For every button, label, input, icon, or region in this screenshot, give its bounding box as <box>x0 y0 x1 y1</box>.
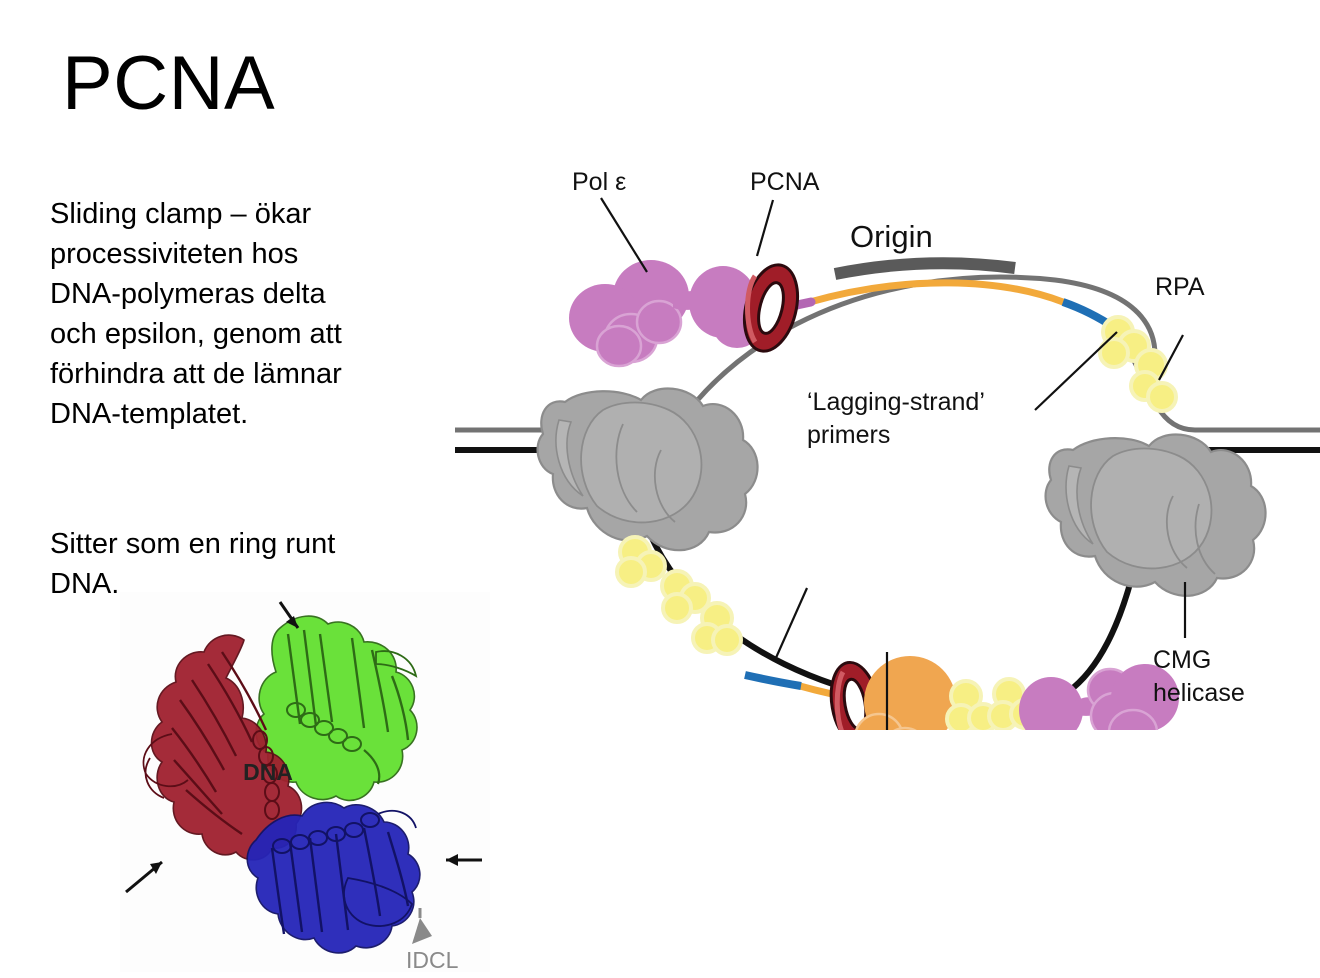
body-paragraph-1: Sliding clamp – ökar processiviteten hos… <box>50 194 350 434</box>
label-cmg-helicase-line2: helicase <box>1153 679 1245 707</box>
label-pol-epsilon: Pol ε <box>572 168 626 196</box>
cmg-helicase-left <box>538 389 758 551</box>
dna-replication-diagram: Pol ε PCNA Origin RPA ‘Lagging-strand’ p… <box>455 150 1320 730</box>
pol-delta <box>855 656 956 730</box>
slide-canvas: PCNA Sliding clamp – ökar processivitete… <box>0 0 1320 978</box>
leader-pcna <box>757 200 773 256</box>
leader-primer-top <box>1035 332 1117 410</box>
pol-epsilon-left <box>569 260 761 366</box>
pcna-trimer-structure-image: DNA IDCL <box>120 592 490 972</box>
label-lagging-strand-primers-line2: primers <box>807 421 890 449</box>
leader-primer-bottom <box>775 588 807 660</box>
label-rpa: RPA <box>1155 273 1205 301</box>
label-cmg-helicase-line1: CMG <box>1153 646 1211 674</box>
rpa-cluster-bottom-left <box>617 537 741 654</box>
idcl-label: IDCL <box>406 947 459 972</box>
lagging-primer-bottom-blue <box>745 675 801 686</box>
page-title: PCNA <box>62 44 275 124</box>
rpa-cluster-top-right <box>1100 317 1176 411</box>
label-pcna: PCNA <box>750 168 820 196</box>
origin-marker <box>835 263 1015 274</box>
leader-pol-epsilon <box>601 198 647 272</box>
dna-center-label: DNA <box>243 759 293 785</box>
label-lagging-strand-primers-line1: ‘Lagging-strand’ <box>807 388 985 416</box>
label-origin: Origin <box>850 219 933 254</box>
cmg-helicase-right <box>1046 435 1266 596</box>
upper-nascent-strand-orange <box>810 283 1063 302</box>
